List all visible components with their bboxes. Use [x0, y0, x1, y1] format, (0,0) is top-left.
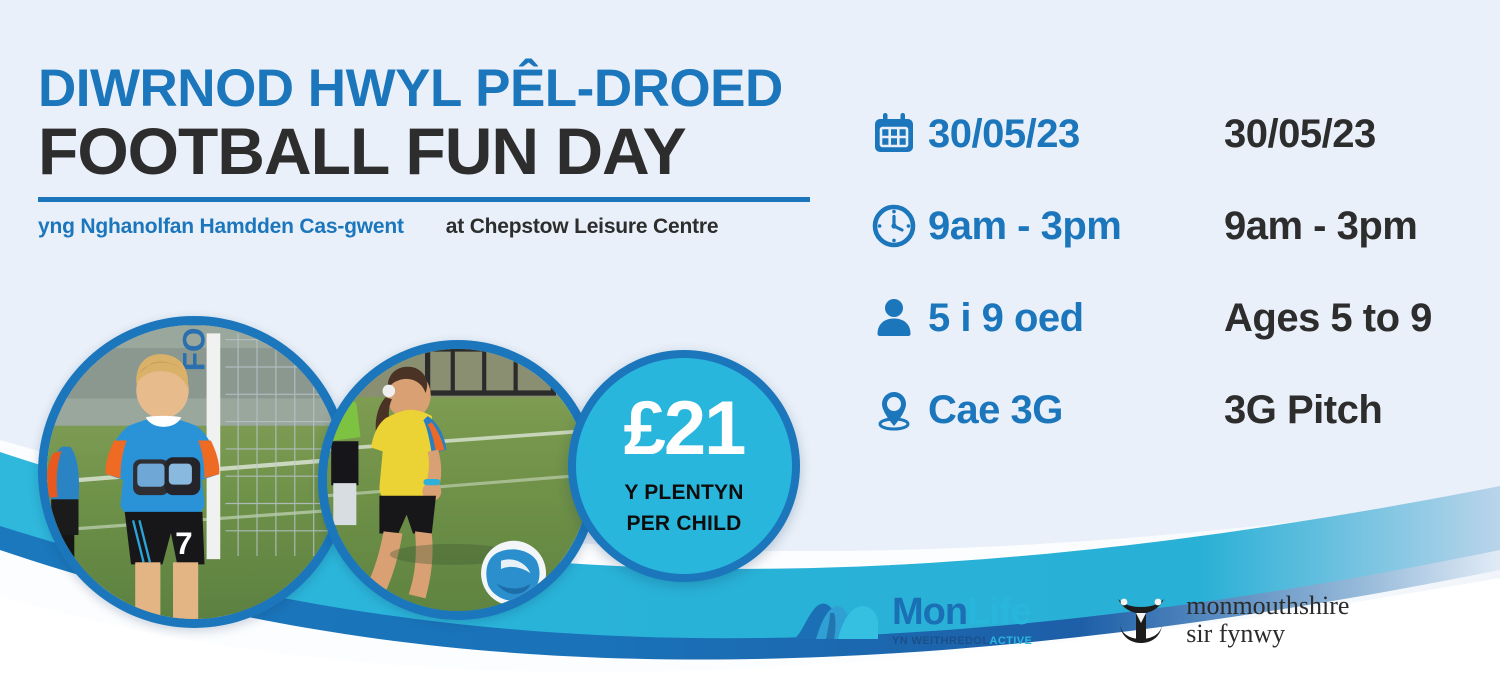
location-english: 3G Pitch — [1224, 388, 1472, 433]
photo-girl-with-ball-image — [327, 349, 589, 611]
monlife-tagline: YN WEITHREDOLACTIVE — [892, 635, 1032, 647]
clock-icon — [872, 204, 928, 248]
monlife-tagline-welsh: YN WEITHREDOL — [892, 635, 989, 647]
monlife-tagline-english: ACTIVE — [989, 635, 1032, 647]
monmouthshire-logo: monmouthshire sir fynwy — [1110, 589, 1349, 651]
event-details-panel: 30/05/23 30/05/23 9am - 3pm 9am - 3pm — [872, 88, 1472, 456]
photo-boy-goalkeeper-image: FOR — [47, 325, 341, 619]
ages-english: Ages 5 to 9 — [1224, 296, 1472, 341]
monlife-word: MonLife — [892, 593, 1031, 631]
subtitle-row: yng Nghanolfan Hamdden Cas-gwent at Chep… — [38, 215, 810, 239]
ages-welsh: 5 i 9 oed — [928, 296, 1224, 341]
headline-block: DIWRNOD HWYL PÊL-DROED FOOTBALL FUN DAY … — [38, 62, 828, 239]
price-label-english: PER CHILD — [627, 512, 742, 536]
logo-strip: MonLife YN WEITHREDOLACTIVE monmouthshir… — [790, 578, 1350, 662]
photo-boy-goalkeeper: FOR — [38, 316, 350, 628]
title-welsh: DIWRNOD HWYL PÊL-DROED — [38, 62, 828, 116]
time-english: 9am - 3pm — [1224, 204, 1472, 249]
monmouthshire-crest-icon — [1110, 589, 1172, 651]
monlife-word-life: Life — [967, 591, 1031, 633]
venue-english: at Chepstow Leisure Centre — [446, 215, 719, 239]
location-welsh: Cae 3G — [928, 388, 1224, 433]
calendar-icon — [872, 112, 928, 156]
detail-row-date: 30/05/23 30/05/23 — [872, 88, 1472, 180]
person-icon — [872, 296, 928, 340]
monmouthshire-line-english: monmouthshire — [1186, 592, 1349, 620]
price-amount: £21 — [624, 391, 745, 467]
monlife-mountain-icon — [790, 595, 882, 645]
location-pin-icon — [872, 388, 928, 432]
detail-row-location: Cae 3G 3G Pitch — [872, 364, 1472, 456]
price-label-welsh: Y PLENTYN — [624, 481, 743, 505]
price-badge: £21 Y PLENTYN PER CHILD — [568, 350, 800, 582]
title-english: FOOTBALL FUN DAY — [38, 118, 828, 185]
time-welsh: 9am - 3pm — [928, 204, 1224, 249]
svg-text:7: 7 — [175, 525, 193, 561]
photo-girl-with-ball — [318, 340, 598, 620]
monmouthshire-line-welsh: sir fynwy — [1186, 620, 1349, 648]
detail-row-time: 9am - 3pm 9am - 3pm — [872, 180, 1472, 272]
venue-welsh: yng Nghanolfan Hamdden Cas-gwent — [38, 215, 404, 239]
detail-row-ages: 5 i 9 oed Ages 5 to 9 — [872, 272, 1472, 364]
monlife-wordmark: MonLife YN WEITHREDOLACTIVE — [892, 593, 1032, 647]
monlife-logo: MonLife YN WEITHREDOLACTIVE — [790, 593, 1032, 647]
monmouthshire-wordmark: monmouthshire sir fynwy — [1186, 592, 1349, 648]
date-welsh: 30/05/23 — [928, 112, 1224, 157]
football-fun-day-banner: DIWRNOD HWYL PÊL-DROED FOOTBALL FUN DAY … — [0, 0, 1500, 700]
date-english: 30/05/23 — [1224, 112, 1472, 157]
monlife-word-mon: Mon — [892, 591, 967, 633]
title-divider-rule — [38, 197, 810, 202]
